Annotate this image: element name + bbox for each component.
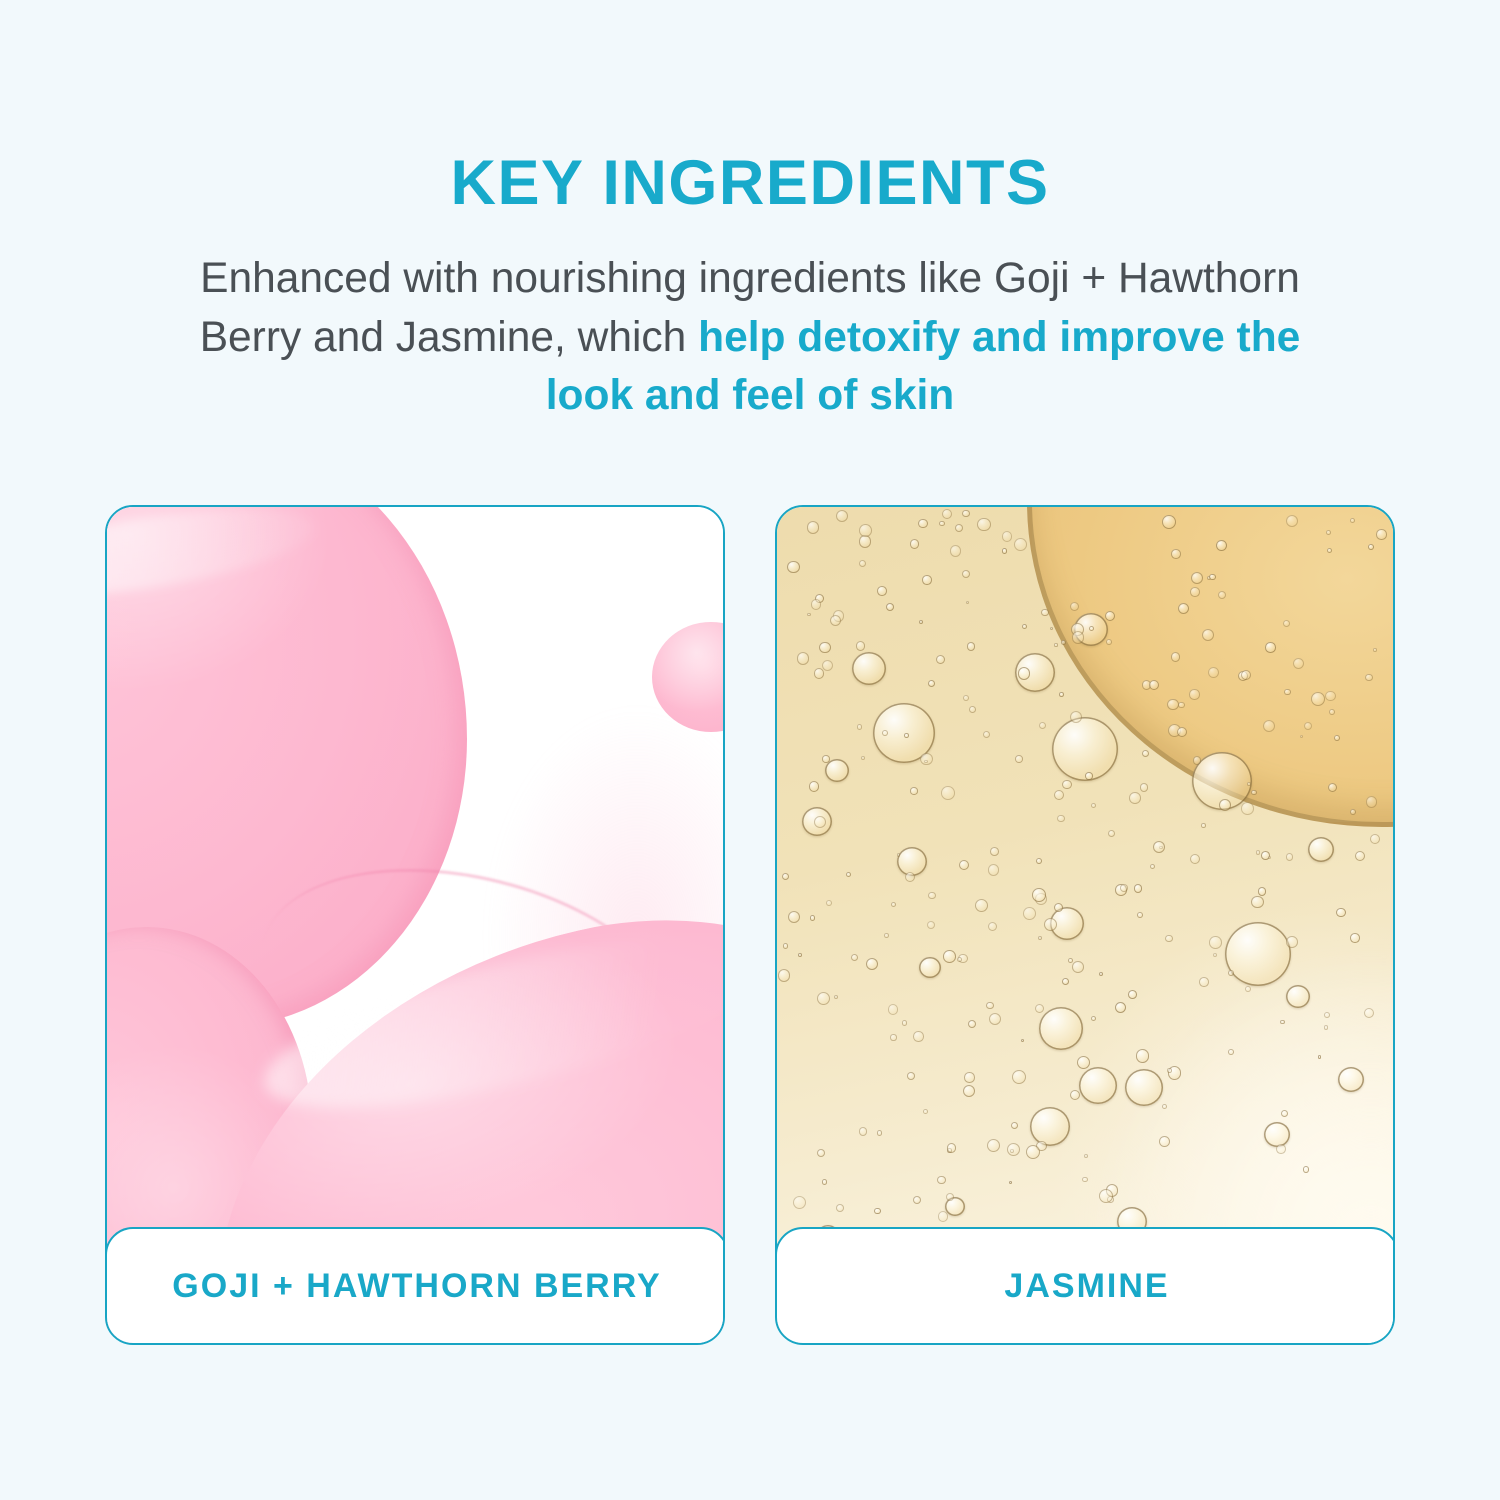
oil-bubble-small <box>1007 1143 1020 1156</box>
oil-bubble-small <box>923 1109 928 1114</box>
oil-bubble-small <box>1162 515 1176 529</box>
oil-bubble-small <box>1162 1104 1167 1109</box>
oil-bubble-small <box>1023 907 1036 920</box>
oil-bubble-small <box>937 1176 946 1185</box>
oil-bubble-small <box>1241 802 1254 815</box>
oil-bubble-small <box>787 561 800 574</box>
oil-bubble-small <box>817 1149 825 1157</box>
oil-bubble-small <box>918 519 928 529</box>
oil-bubble-small <box>1038 936 1042 940</box>
oil-bubble-small <box>1281 1110 1288 1117</box>
oil-bubble <box>1338 1067 1364 1092</box>
oil-bubble-small <box>877 586 887 596</box>
oil-bubble-small <box>1018 667 1030 679</box>
oil-bubble-small <box>969 706 976 713</box>
oil-bubble-small <box>1142 750 1149 757</box>
pink-serum-droplets-image <box>107 507 723 1343</box>
oil-bubble <box>1264 1122 1290 1147</box>
oil-bubble-small <box>807 613 810 616</box>
oil-bubble-small <box>1106 639 1112 645</box>
oil-bubble <box>1225 922 1291 986</box>
oil-bubble-small <box>1136 1049 1150 1063</box>
oil-bubble-small <box>1208 667 1219 678</box>
oil-bubble-small <box>1068 958 1073 963</box>
oil-bubble <box>1052 717 1118 781</box>
oil-bubble-small <box>977 518 991 532</box>
oil-bubble-small <box>988 922 997 931</box>
oil-bubble-small <box>1041 609 1048 616</box>
oil-bubble-small <box>1190 587 1200 597</box>
oil-bubble-small <box>904 733 909 738</box>
oil-bubble-small <box>882 730 888 736</box>
oil-bubble <box>1039 1007 1083 1050</box>
oil-bubble <box>1308 837 1334 862</box>
oil-bubble-small <box>1120 884 1128 892</box>
oil-bubble-small <box>988 864 999 875</box>
oil-bubble-small <box>1286 853 1293 860</box>
oil-bubble-small <box>1167 699 1178 710</box>
oil-bubble-small <box>1350 933 1359 942</box>
oil-bubble-small <box>939 521 945 527</box>
oil-bubble-small <box>1258 887 1266 895</box>
oil-bubble-small <box>1370 834 1380 844</box>
oil-bubble-small <box>859 1127 868 1136</box>
oil-bubble-small <box>902 1020 907 1025</box>
oil-bubble-small <box>822 755 829 762</box>
key-ingredients-panel: KEY INGREDIENTS Enhanced with nourishing… <box>0 0 1500 1500</box>
oil-bubble-small <box>810 915 815 920</box>
oil-bubble-small <box>783 943 788 948</box>
oil-bubble-small <box>1325 691 1335 701</box>
oil-bubble-small <box>1084 1154 1088 1158</box>
oil-bubble-small <box>928 680 935 687</box>
oil-bubble-small <box>1336 908 1345 917</box>
oil-bubble-small <box>922 575 931 584</box>
oil-bubble-small <box>1373 648 1376 651</box>
oil-bubble-small <box>1165 935 1173 943</box>
oil-bubble-small <box>1171 549 1181 559</box>
oil-bubble-small <box>964 1072 974 1082</box>
oil-bubble-small <box>1334 735 1340 741</box>
oil-bubble-small <box>1209 936 1222 949</box>
oil-bubble-small <box>920 753 932 765</box>
oil-bubble-small <box>1091 1016 1096 1021</box>
oil-bubble-small <box>819 642 830 653</box>
oil-bubble-small <box>1091 803 1096 808</box>
oil-bubble-small <box>1149 680 1159 690</box>
oil-bubble-small <box>938 1211 949 1222</box>
oil-bubble-small <box>1002 531 1012 541</box>
oil-bubble-small <box>1303 1166 1309 1172</box>
oil-bubble-small <box>814 816 826 828</box>
oil-bubble-small <box>877 1130 883 1136</box>
oil-bubble-small <box>874 1208 881 1215</box>
oil-bubble-small <box>1286 936 1298 948</box>
oil-bubble-small <box>1256 850 1261 855</box>
oil-bubble-small <box>942 509 952 519</box>
oil-bubble-small <box>1350 518 1355 523</box>
oil-bubble-small <box>910 787 917 794</box>
oil-bubble-small <box>851 954 858 961</box>
oil-bubble-small <box>1327 548 1332 553</box>
oil-bubble-small <box>797 652 809 664</box>
oil-bubble-small <box>1280 1020 1285 1025</box>
oil-bubble-small <box>1077 1056 1090 1069</box>
oil-bubble-small <box>943 950 956 963</box>
oil-bubble-small <box>936 655 945 664</box>
oil-bubble-small <box>798 953 802 957</box>
oil-bubble-small <box>814 668 825 679</box>
oil-bubble-small <box>1177 727 1187 737</box>
oil-bubble-small <box>1072 961 1084 973</box>
oil-bubble-small <box>1057 815 1065 823</box>
oil-bubble-small <box>1251 790 1256 795</box>
page-title: KEY INGREDIENTS <box>0 152 1500 215</box>
oil-bubble-small <box>857 724 863 730</box>
oil-bubble-small <box>1039 722 1046 729</box>
oil-bubble-small <box>986 1002 993 1009</box>
oil-bubble-small <box>1228 1049 1234 1055</box>
oil-bubble-small <box>1159 1136 1170 1147</box>
oil-bubble-small <box>1134 884 1142 892</box>
oil-bubble-small <box>1366 796 1377 807</box>
oil-bubble-small <box>1171 652 1180 661</box>
oil-bubble-small <box>890 1034 896 1040</box>
oil-bubble-small <box>1032 888 1046 902</box>
oil-bubble-small <box>1022 624 1027 629</box>
oil-bubble-small <box>1304 722 1312 730</box>
oil-bubble-small <box>809 781 819 791</box>
subtitle: Enhanced with nourishing ingredients lik… <box>180 250 1320 426</box>
oil-bubble-small <box>1247 782 1251 786</box>
ingredient-label-panel-goji: GOJI + HAWTHORN BERRY <box>105 1227 725 1345</box>
oil-bubble-small <box>1276 1144 1286 1154</box>
oil-bubble-small <box>888 1004 899 1015</box>
oil-bubble-small <box>963 695 969 701</box>
oil-bubble-small <box>1059 692 1063 696</box>
oil-bubble-small <box>1015 755 1023 763</box>
golden-oil-bubbles-image <box>777 507 1393 1343</box>
oil-bubble-small <box>1318 1055 1321 1058</box>
oil-bubble-small <box>1137 912 1143 918</box>
oil-bubble-small <box>1293 658 1304 669</box>
oil-bubble-small <box>946 1193 954 1201</box>
oil-bubble-small <box>811 599 822 610</box>
ingredient-card-goji-hawthorn-berry[interactable]: GOJI + HAWTHORN BERRY <box>105 505 725 1345</box>
oil-bubble-small <box>1193 756 1201 764</box>
ingredient-label-jasmine: JASMINE <box>1004 1267 1169 1306</box>
oil-bubble-small <box>1167 1068 1172 1073</box>
oil-bubble-small <box>1014 538 1027 551</box>
oil-bubble <box>1030 1107 1070 1146</box>
ingredient-card-jasmine[interactable]: JASMINE <box>775 505 1395 1345</box>
oil-bubble <box>852 652 886 685</box>
oil-bubble-small <box>1265 642 1276 653</box>
oil-bubble-small <box>1070 602 1079 611</box>
oil-bubble-small <box>1072 631 1084 643</box>
oil-bubble-small <box>861 756 865 760</box>
oil-bubble-small <box>1054 643 1057 646</box>
oil-bubble-small <box>1219 799 1231 811</box>
oil-bubble-small <box>897 853 900 856</box>
oil-bubble-small <box>1284 689 1291 696</box>
oil-bubble-small <box>1178 702 1184 708</box>
oil-bubble-small <box>1376 529 1386 539</box>
oil-bubble <box>1125 1069 1163 1106</box>
ingredient-label-goji: GOJI + HAWTHORN BERRY <box>172 1267 661 1306</box>
oil-bubble-small <box>1129 792 1141 804</box>
oil-bubble-small <box>990 847 999 856</box>
oil-bubble-small <box>1140 783 1149 792</box>
ingredient-label-panel-jasmine: JASMINE <box>775 1227 1395 1345</box>
oil-bubble-small <box>1189 689 1199 699</box>
oil-bubble-small <box>927 921 935 929</box>
oil-bubble-small <box>1026 1145 1040 1159</box>
oil-bubble-small <box>962 510 969 517</box>
oil-bubble-small <box>955 524 963 532</box>
oil-bubble-small <box>987 1139 1000 1152</box>
oil-bubble-small <box>950 545 962 557</box>
oil-bubble-small <box>793 1196 806 1209</box>
oil-bubble-small <box>967 642 975 650</box>
oil-bubble-small <box>1009 1181 1012 1184</box>
oil-bubble-small <box>1085 772 1093 780</box>
oil-bubble-small <box>884 933 889 938</box>
oil-bubble-small <box>957 957 962 962</box>
oil-bubble-small <box>1099 972 1103 976</box>
oil-bubble-small <box>1199 977 1209 987</box>
oil-bubble-small <box>1201 823 1206 828</box>
oil-bubble-small <box>1062 978 1069 985</box>
oil-bubble-small <box>1070 1090 1080 1100</box>
oil-bubble-small <box>962 570 970 578</box>
oil-bubble-small <box>836 1204 844 1212</box>
oil-bubble-small <box>1324 1025 1328 1029</box>
oil-bubble-small <box>1365 674 1372 681</box>
oil-bubble-small <box>1329 709 1335 715</box>
oil-bubble-small <box>1062 780 1071 789</box>
oil-bubble <box>1079 1067 1117 1104</box>
oil-bubble-small <box>1082 1177 1088 1183</box>
oil-bubble-small <box>941 786 955 800</box>
oil-bubble-small <box>1263 720 1275 732</box>
oil-bubble-small <box>910 539 919 548</box>
oil-bubble-small <box>913 1031 923 1041</box>
